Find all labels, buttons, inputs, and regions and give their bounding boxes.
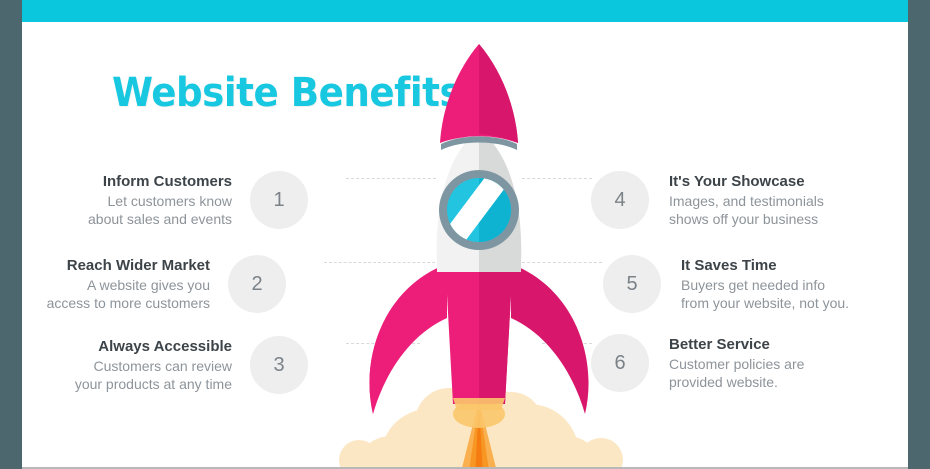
benefit-desc-2-line1: A website gives you (47, 277, 210, 295)
rocket-illustration (329, 42, 629, 467)
benefit-title-1: Inform Customers (88, 172, 232, 191)
benefit-desc-6-line1: Customer policies are (669, 356, 804, 374)
rocket-nozzle (453, 398, 505, 410)
benefit-title-2: Reach Wider Market (47, 256, 210, 275)
rocket-tail-shade (479, 258, 513, 404)
benefit-title-3: Always Accessible (75, 337, 232, 356)
benefit-title-4: It's Your Showcase (669, 172, 824, 191)
benefit-desc-1-line2: about sales and events (88, 211, 232, 229)
benefit-text-4: It's Your Showcase Images, and testimoni… (669, 172, 824, 229)
benefit-desc-2-line2: access to more customers (47, 295, 210, 313)
window-frame-right (908, 0, 930, 469)
benefit-text-2: Reach Wider Market A website gives you a… (47, 256, 210, 313)
benefit-item-5[interactable]: 5 It Saves Time Buyers get needed info f… (603, 255, 849, 313)
benefit-desc-4-line2: shows off your business (669, 211, 824, 229)
benefit-text-6: Better Service Customer policies are pro… (669, 335, 804, 392)
benefit-number-1[interactable]: 1 (250, 171, 308, 229)
benefit-number-3[interactable]: 3 (250, 336, 308, 394)
benefit-desc-5-line2: from your website, not you. (681, 295, 849, 313)
benefit-desc-1-line1: Let customers know (88, 193, 232, 211)
rocket-fin-right (511, 264, 589, 414)
benefit-item-2[interactable]: Reach Wider Market A website gives you a… (47, 255, 286, 313)
accent-bar-top (22, 0, 908, 22)
benefit-title-5: It Saves Time (681, 256, 849, 275)
benefit-desc-6-line2: provided website. (669, 374, 804, 392)
slide-content: Website Benefits: (22, 22, 908, 467)
slide-canvas: Website Benefits: (0, 0, 930, 469)
benefit-text-3: Always Accessible Customers can review y… (75, 337, 232, 394)
benefit-item-3[interactable]: Always Accessible Customers can review y… (75, 336, 308, 394)
rocket-nose-shade (479, 44, 518, 143)
benefit-text-1: Inform Customers Let customers know abou… (88, 172, 232, 229)
benefit-title-6: Better Service (669, 335, 804, 354)
benefit-desc-3-line1: Customers can review (75, 358, 232, 376)
benefit-item-1[interactable]: Inform Customers Let customers know abou… (88, 171, 308, 229)
benefit-desc-4-line1: Images, and testimonials (669, 193, 824, 211)
window-frame-left (0, 0, 22, 469)
benefit-number-2[interactable]: 2 (228, 255, 286, 313)
benefit-desc-5-line1: Buyers get needed info (681, 277, 849, 295)
benefit-text-5: It Saves Time Buyers get needed info fro… (681, 256, 849, 313)
benefit-desc-3-line2: your products at any time (75, 376, 232, 394)
